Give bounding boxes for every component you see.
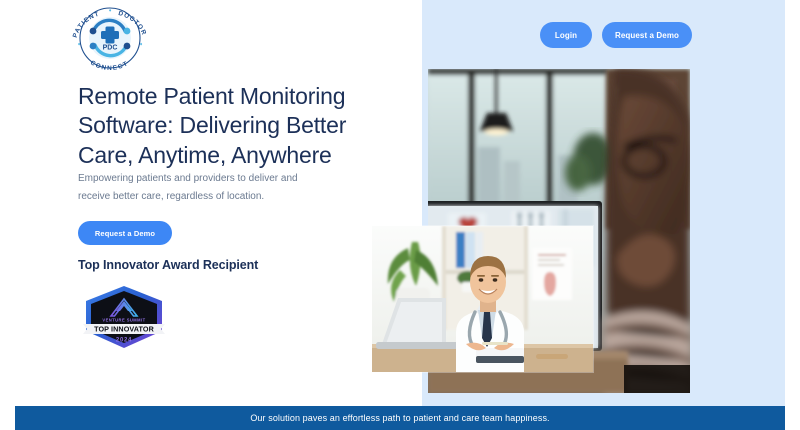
banner-text: Our solution paves an effortless path to… xyxy=(250,413,549,423)
bottom-banner: Our solution paves an effortless path to… xyxy=(15,406,785,430)
brand-logo[interactable]: PDC PATIENT DOCTOR CONNECT xyxy=(62,4,158,72)
svg-text:CONNECT: CONNECT xyxy=(89,59,130,72)
svg-text:VENTURE SUMMIT: VENTURE SUMMIT xyxy=(102,318,145,323)
header-actions: Login Request a Demo xyxy=(540,22,692,48)
page-title: Remote Patient Monitoring Software: Deli… xyxy=(78,82,388,170)
request-demo-button-header[interactable]: Request a Demo xyxy=(602,22,692,48)
svg-text:PDC: PDC xyxy=(103,45,118,52)
hero-subheading: Empowering patients and providers to del… xyxy=(78,170,330,205)
award-heading: Top Innovator Award Recipient xyxy=(78,258,258,272)
login-button[interactable]: Login xyxy=(540,22,592,48)
svg-text:2024: 2024 xyxy=(116,338,132,344)
doctor-at-desk-photo xyxy=(372,226,593,372)
landing-page: PDC PATIENT DOCTOR CONNECT Remote Patien… xyxy=(0,0,800,430)
top-innovator-award-badge: VENTURE SUMMIT TOP INNOVATOR 2024 xyxy=(78,283,170,351)
request-demo-button-hero[interactable]: Request a Demo xyxy=(78,221,172,245)
svg-text:TOP INNOVATOR: TOP INNOVATOR xyxy=(94,325,154,334)
